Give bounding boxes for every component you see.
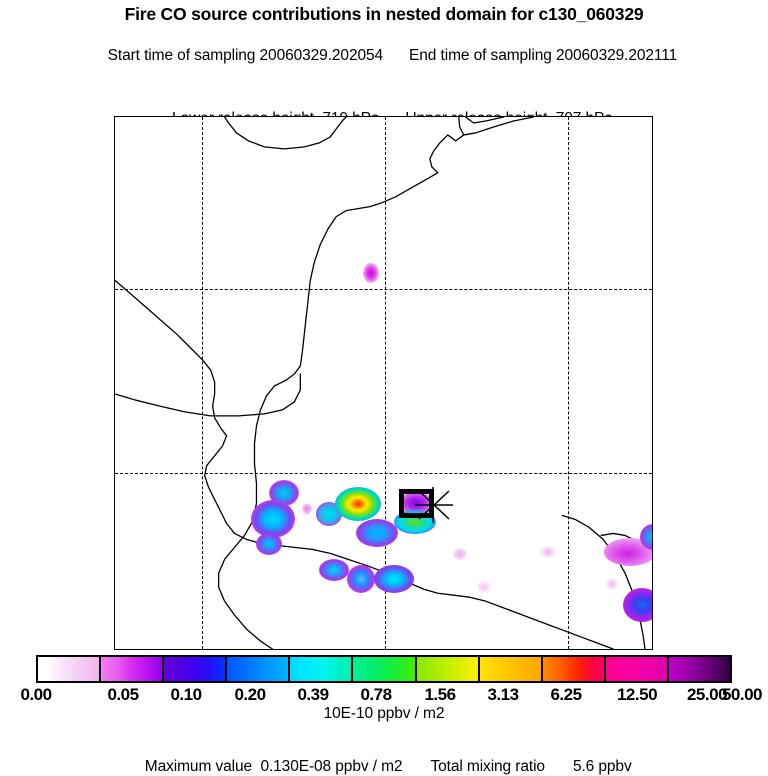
colorbar-segment xyxy=(543,657,606,681)
plume-blob xyxy=(269,480,299,506)
colorbar-segment xyxy=(290,657,353,681)
plume-blob xyxy=(319,559,349,581)
plume-blob xyxy=(316,502,342,526)
coastline-overlay xyxy=(115,117,652,649)
colorbar-tick: 3.13 xyxy=(487,685,518,705)
plume-blob xyxy=(453,548,467,560)
colorbar-segment xyxy=(480,657,543,681)
plume-blob xyxy=(356,519,398,547)
colorbar-tick: 50.00 xyxy=(722,685,762,705)
colorbar[interactable] xyxy=(36,655,732,683)
plume-blob xyxy=(256,533,282,555)
bottom-statistics: Maximum value 0.130E-08 ppbv / m2 Total … xyxy=(0,740,768,776)
release-site-box-marker[interactable] xyxy=(399,489,434,518)
plume-blob xyxy=(347,565,375,593)
colorbar-unit-label: 10E-10 ppbv / m2 xyxy=(0,705,768,723)
plume-blob xyxy=(640,524,653,550)
maximum-value-label: Maximum value 0.130E-08 ppbv / m2 xyxy=(145,758,403,775)
plume-blob xyxy=(604,538,653,566)
colorbar-tick: 0.39 xyxy=(297,685,328,705)
gridline-vertical xyxy=(568,117,569,649)
end-time-label: End time of sampling 20060329.202111 xyxy=(409,47,677,64)
sampling-time-line: Start time of sampling 20060329.202054 E… xyxy=(0,24,768,87)
gridline-vertical xyxy=(202,117,203,649)
gridline-horizontal xyxy=(115,289,652,290)
colorbar-segment xyxy=(164,657,227,681)
colorbar-segment xyxy=(353,657,416,681)
gridline-horizontal xyxy=(115,473,652,474)
gridline-vertical xyxy=(385,117,386,649)
colorbar-tick: 12.50 xyxy=(617,685,657,705)
colorbar-segment xyxy=(38,657,101,681)
colorbar-tick: 0.20 xyxy=(234,685,265,705)
colorbar-tick: 0.00 xyxy=(20,685,51,705)
plume-blob xyxy=(606,578,618,590)
plume-blob xyxy=(374,565,414,593)
colorbar-segment xyxy=(227,657,290,681)
total-mixing-ratio-value: 5.6 ppbv xyxy=(573,758,632,775)
plume-blob xyxy=(477,581,491,593)
colorbar-tick: 6.25 xyxy=(550,685,581,705)
plume-blob xyxy=(251,500,295,538)
total-mixing-ratio-label: Total mixing ratio xyxy=(430,758,545,775)
colorbar-tick: 0.05 xyxy=(107,685,138,705)
colorbar-segment xyxy=(417,657,480,681)
map-plot-area[interactable] xyxy=(114,116,653,650)
colorbar-segment xyxy=(101,657,164,681)
colorbar-tick: 0.78 xyxy=(360,685,391,705)
colorbar-tick: 0.10 xyxy=(170,685,201,705)
plume-blob xyxy=(363,263,379,283)
plume-blob xyxy=(623,588,653,622)
colorbar-segment xyxy=(606,657,669,681)
start-time-label: Start time of sampling 20060329.202054 xyxy=(108,47,383,64)
page-title: Fire CO source contributions in nested d… xyxy=(0,4,768,24)
plume-blob xyxy=(302,504,312,515)
colorbar-segment xyxy=(669,657,730,681)
map-inner xyxy=(115,117,652,649)
plume-blob xyxy=(540,546,556,558)
colorbar-tick: 1.56 xyxy=(424,685,455,705)
plume-blob xyxy=(335,487,381,521)
colorbar-tick-labels: 0.00 0.05 0.10 0.20 0.39 0.78 1.56 3.13 … xyxy=(0,685,768,707)
